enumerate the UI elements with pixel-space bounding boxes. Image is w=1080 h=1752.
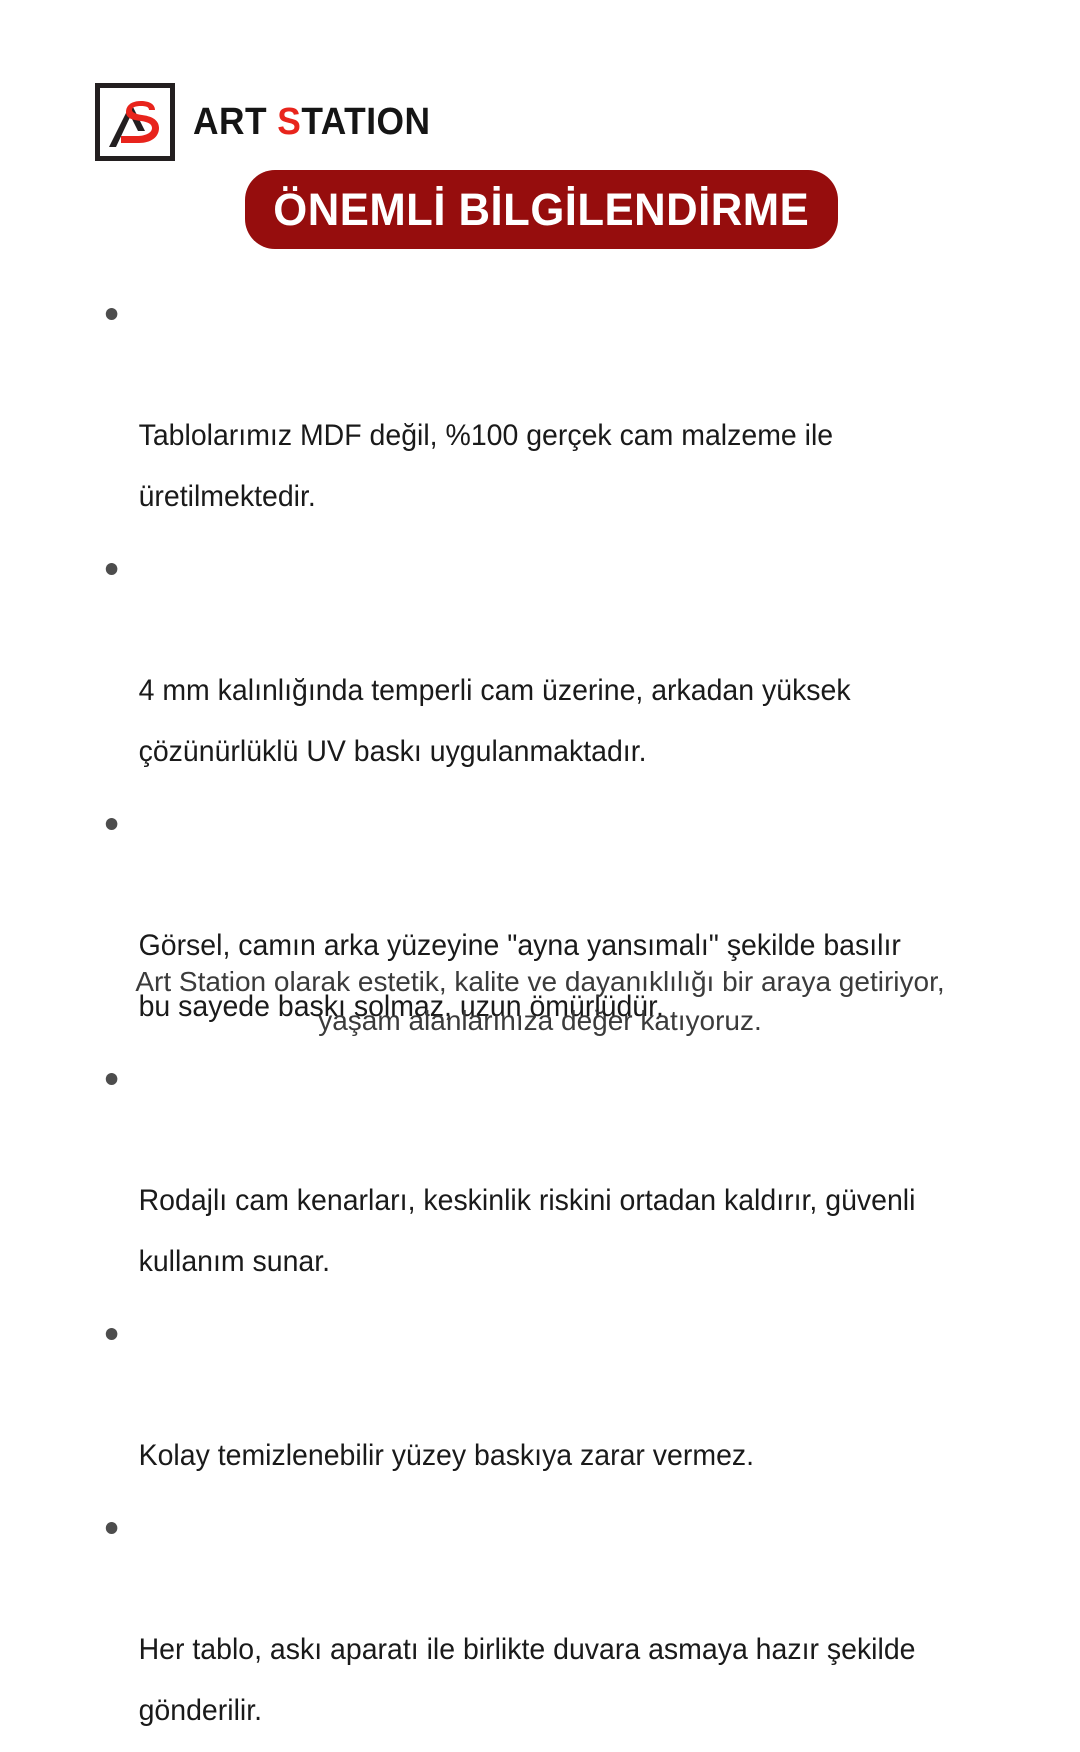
list-item-text: Her tablo, askı aparatı ile birlikte duv…: [139, 1633, 916, 1727]
banner-title: ÖNEMLİ BİLGİLENDİRME: [274, 187, 810, 232]
list-item-text: Kolay temizlenebilir yüzey baskıya zarar…: [139, 1439, 754, 1472]
wordmark-accent-letter: S: [277, 101, 301, 143]
list-item-text: 4 mm kalınlığında temperli cam üzerine, …: [139, 674, 851, 768]
bullet-dot-icon: [106, 308, 118, 320]
brand-wordmark: ART STATION: [193, 103, 430, 141]
wordmark-part-1: ART: [193, 101, 277, 143]
bullet-dot-icon: [106, 1073, 118, 1085]
list-item: 4 mm kalınlığında temperli cam üzerine, …: [100, 538, 997, 782]
list-item: Rodajlı cam kenarları, keskinlik riskini…: [100, 1048, 997, 1292]
list-item: Tablolarımız MDF değil, %100 gerçek cam …: [100, 283, 997, 527]
bullet-dot-icon: [106, 818, 118, 830]
promo-info-card: ART STATION ÖNEMLİ BİLGİLENDİRME Tablola…: [0, 0, 1080, 1080]
important-notice-banner: ÖNEMLİ BİLGİLENDİRME: [245, 170, 838, 249]
list-item-text: Rodajlı cam kenarları, keskinlik riskini…: [139, 1184, 916, 1278]
bullet-dot-icon: [106, 1328, 118, 1340]
list-item: Her tablo, askı aparatı ile birlikte duv…: [100, 1497, 997, 1741]
list-item-text: Tablolarımız MDF değil, %100 gerçek cam …: [139, 419, 834, 513]
bullet-dot-icon: [106, 563, 118, 575]
brand-header: ART STATION: [95, 83, 448, 161]
list-item: Kolay temizlenebilir yüzey baskıya zarar…: [100, 1303, 997, 1486]
bullet-dot-icon: [106, 1522, 118, 1534]
art-station-monogram-icon: [95, 83, 175, 161]
wordmark-part-2: TATION: [301, 101, 430, 143]
footer-tagline: Art Station olarak estetik, kalite ve da…: [0, 962, 1080, 1040]
